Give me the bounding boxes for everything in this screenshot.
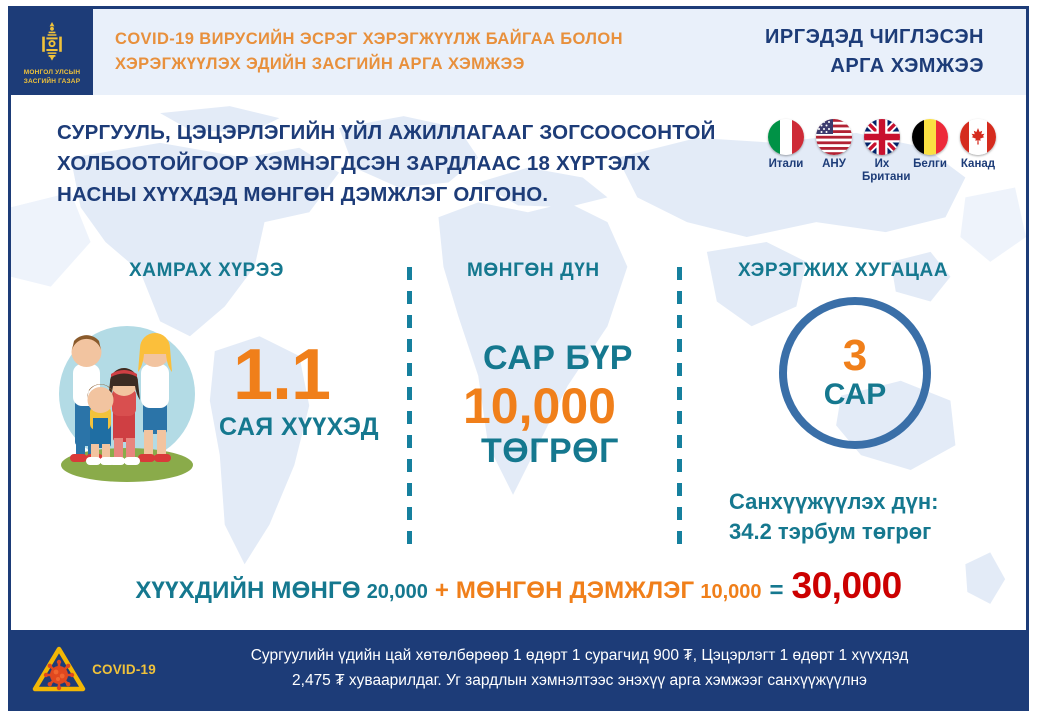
equation-equals-sign: =: [770, 577, 784, 605]
funding-value: 34.2 тэрбум төгрөг: [729, 517, 938, 547]
footer: COVID-19 Сургуулийн үдийн цай хөтөлбөрөө…: [11, 630, 1026, 708]
header-title: COVID-19 ВИРУСИЙН ЭСРЭГ ХЭРЭГЖҮҮЛЖ БАЙГА…: [93, 9, 721, 95]
equation-total: 30,000: [792, 565, 902, 607]
flag-label-uk: Их Британи: [862, 158, 902, 183]
amount-period: САР БҮР: [483, 339, 633, 378]
family-illustration: [39, 302, 214, 492]
amount-value: 10,000: [463, 377, 616, 435]
covid-badge-label: COVID-19: [92, 662, 156, 677]
duration-unit: САР: [824, 379, 887, 411]
funding-label: Санхүүжүүлэх дүн:: [729, 487, 938, 517]
footer-note-line1: Сургуулийн үдийн цай хөтөлбөрөөр 1 өдөрт…: [159, 644, 1000, 669]
header-subtitle-line2: АРГА ХЭМЖЭЭ: [830, 52, 984, 81]
intro-line3: НАСНЫ ХҮҮХДЭД МӨНГӨН ДЭМЖЛЭГ ОЛГОНО.: [57, 179, 757, 210]
intro-line2: ХОЛБООТОЙГООР ХЭМНЭГДСЭН ЗАРДЛААС 18 ХҮР…: [57, 148, 757, 179]
header-title-line2: ХЭРЭГЖҮҮЛЭХ ЭДИЙН ЗАСГИЙН АРГА ХЭМЖЭЭ: [115, 52, 721, 77]
equation-term-a-label: ХҮҮХДИЙН МӨНГӨ: [135, 577, 360, 605]
equation-plus-sign: +: [435, 577, 449, 605]
column-divider-1: [407, 267, 412, 545]
header-title-line1: COVID-19 ВИРУСИЙН ЭСРЭГ ХЭРЭГЖҮҮЛЖ БАЙГА…: [115, 27, 721, 52]
coverage-unit: САЯ ХҮҮХЭД: [219, 413, 379, 442]
flag-label-belgium: Белги: [910, 158, 950, 171]
intro-paragraph: СУРГУУЛЬ, ЦЭЦЭРЛЭГИЙН ҮЙЛ АЖИЛЛАГААГ ЗОГ…: [57, 117, 757, 210]
flag-item-usa: АНУ: [814, 119, 854, 171]
amount-currency: ТӨГРӨГ: [481, 432, 619, 471]
column-heading-duration: ХЭРЭГЖИХ ХУГАЦАА: [738, 260, 948, 282]
flag-usa-icon: [816, 119, 852, 155]
flag-label-canada: Канад: [958, 158, 998, 171]
flag-item-uk: Их Британи: [862, 119, 902, 183]
flag-label-italy: Итали: [766, 158, 806, 171]
government-logo: МОНГОЛ УЛСЫН ЗАСГИЙН ГАЗАР: [11, 9, 93, 95]
covid-badge: COVID-19: [11, 645, 159, 693]
footer-note-line2: 2,475 ₮ хуваарилдаг. Уг зардлын хэмнэлтэ…: [159, 669, 1000, 694]
flag-belgium-icon: [912, 119, 948, 155]
funding-block: Санхүүжүүлэх дүн: 34.2 тэрбум төгрөг: [729, 487, 938, 546]
logo-text: МОНГОЛ УЛСЫН ЗАСГИЙН ГАЗАР: [24, 69, 81, 87]
infographic-card: МОНГОЛ УЛСЫН ЗАСГИЙН ГАЗАР COVID-19 ВИРУ…: [8, 6, 1029, 711]
flag-label-usa: АНУ: [814, 158, 854, 171]
covid-warning-triangle-icon: [32, 645, 86, 693]
duration-circle: 3 САР: [779, 297, 931, 449]
duration-value: 3: [843, 335, 867, 377]
flag-item-canada: Канад: [958, 119, 998, 171]
footer-note: Сургуулийн үдийн цай хөтөлбөрөөр 1 өдөрт…: [159, 644, 1026, 694]
coverage-value: 1.1: [233, 339, 330, 411]
flag-item-belgium: Белги: [910, 119, 950, 171]
intro-line1: СУРГУУЛЬ, ЦЭЦЭРЛЭГИЙН ҮЙЛ АЖИЛЛАГААГ ЗОГ…: [57, 117, 757, 148]
equation-term-b-label: МӨНГӨН ДЭМЖЛЭГ: [456, 577, 694, 605]
country-flags: Итали: [766, 119, 998, 183]
header: МОНГОЛ УЛСЫН ЗАСГИЙН ГАЗАР COVID-19 ВИРУ…: [11, 9, 1026, 95]
header-subtitle: ИРГЭДЭД ЧИГЛЭСЭН АРГА ХЭМЖЭЭ: [721, 9, 1026, 95]
flag-italy-icon: [768, 119, 804, 155]
summary-equation: ХҮҮХДИЙН МӨНГӨ 20,000 + МӨНГӨН ДЭМЖЛЭГ 1…: [11, 565, 1026, 607]
column-divider-2: [677, 267, 682, 545]
column-heading-coverage: ХАМРАХ ХҮРЭЭ: [129, 260, 284, 282]
equation-term-a-value: 20,000: [367, 581, 428, 604]
equation-term-b-value: 10,000: [700, 581, 761, 604]
flag-canada-icon: [960, 119, 996, 155]
column-heading-amount: МӨНГӨН ДҮН: [467, 260, 600, 282]
flag-item-italy: Итали: [766, 119, 806, 171]
header-subtitle-line1: ИРГЭДЭД ЧИГЛЭСЭН: [765, 23, 984, 52]
flag-uk-icon: [864, 119, 900, 155]
soyombo-emblem-icon: [39, 22, 65, 66]
